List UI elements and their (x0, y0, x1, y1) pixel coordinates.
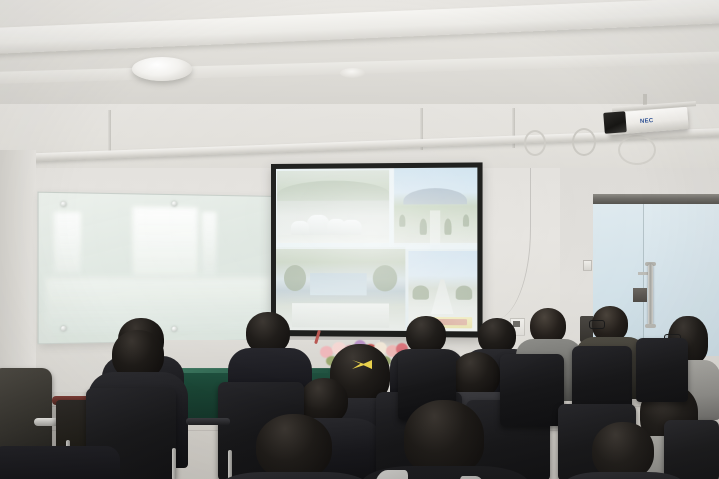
person-head (256, 414, 332, 479)
flower-stem (314, 330, 321, 344)
pipe-elbow (618, 135, 656, 165)
whiteboard-reflection (133, 207, 198, 275)
whiteboard-reflection (54, 212, 80, 273)
projection-screen-frame (271, 162, 483, 337)
person-head (404, 400, 484, 474)
slide-image-top-right (393, 168, 477, 245)
audience-chair[interactable] (636, 338, 688, 402)
ceiling-dome-light-small (340, 68, 366, 78)
projection-screen-surface (276, 168, 477, 332)
chair-armrest (186, 418, 230, 425)
slide-divider-horizontal (276, 243, 477, 249)
sprinkler-drop-pipe (108, 110, 111, 154)
slide-image-bottom-left (276, 247, 405, 331)
door-lock-icon[interactable] (633, 288, 647, 302)
pipe-elbow (572, 128, 596, 156)
whiteboard-stud (61, 202, 67, 207)
glasses-icon (589, 320, 605, 329)
light-switch[interactable] (583, 260, 592, 271)
whiteboard-stud (172, 201, 177, 206)
door-header-frame (593, 194, 719, 204)
person-head (592, 422, 654, 479)
audience-chair[interactable] (500, 354, 564, 426)
chair-leg (228, 450, 232, 479)
ceiling-dome-light (132, 57, 192, 81)
conference-room-photo: NEC (0, 0, 719, 479)
pipe-elbow (524, 130, 546, 156)
whiteboard-reflection (202, 212, 216, 275)
door-handle-mount-bottom (645, 324, 656, 328)
projector-lens-icon (603, 111, 627, 134)
whiteboard-stud (172, 326, 177, 331)
audience-chair[interactable] (664, 420, 719, 479)
slide-image-top-left (277, 170, 390, 243)
slide-divider-vertical (389, 168, 394, 247)
person-body (562, 472, 686, 479)
chair-leg (172, 448, 176, 479)
whiteboard-stud (61, 326, 67, 331)
door-handle[interactable] (648, 264, 653, 326)
wall-outlet-socket (513, 321, 520, 327)
glass-whiteboard[interactable] (37, 192, 279, 345)
foreground-dark-mass (0, 446, 120, 479)
